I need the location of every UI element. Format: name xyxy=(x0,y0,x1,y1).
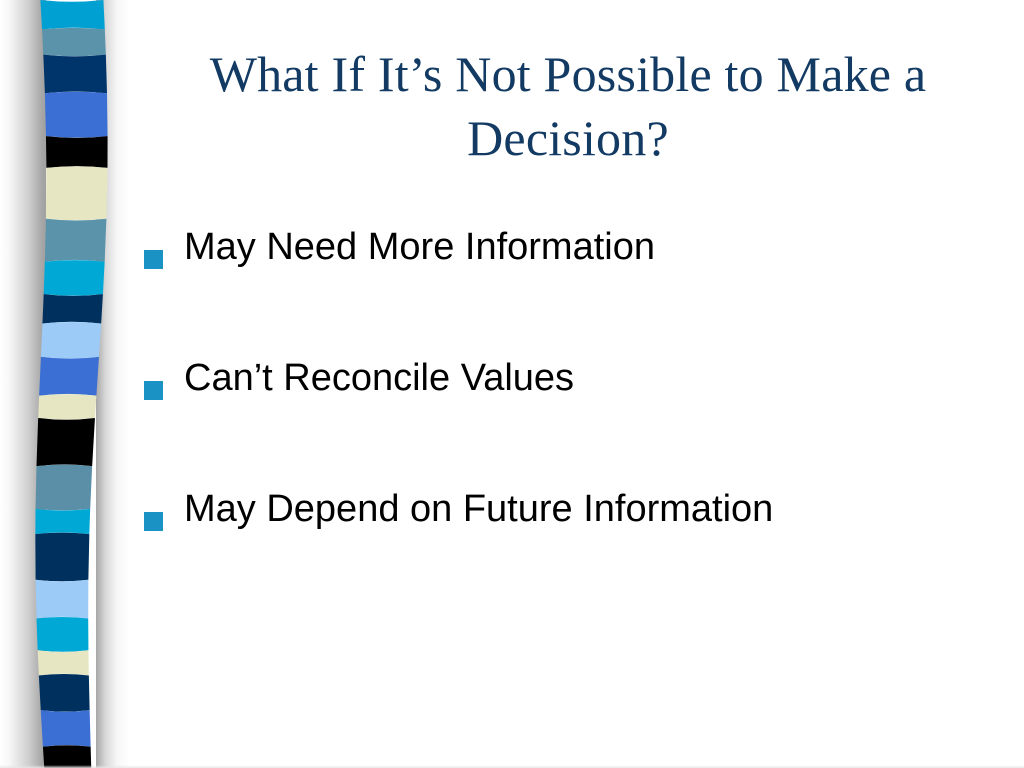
ribbon-band xyxy=(43,55,107,94)
ribbon-band xyxy=(35,509,90,534)
bullet-list: May Need More Information Can’t Reconcil… xyxy=(144,228,1004,621)
ribbon-band xyxy=(39,357,99,396)
list-item: May Depend on Future Information xyxy=(144,490,1004,621)
ribbon-band xyxy=(37,617,89,652)
ribbon-band xyxy=(36,418,94,466)
ribbon-band xyxy=(36,465,93,511)
square-bullet-icon xyxy=(144,512,163,531)
ribbon-band xyxy=(42,294,102,323)
ribbon-band xyxy=(39,674,90,712)
list-item: May Need More Information xyxy=(144,228,1004,359)
square-bullet-icon xyxy=(144,381,163,400)
slide-title: What If It’s Not Possible to Make a Deci… xyxy=(128,42,1008,170)
ribbon-band xyxy=(46,136,108,168)
ribbon-band xyxy=(38,394,96,419)
ribbon-bands-graphic xyxy=(0,0,140,768)
slide-canvas: What If It’s Not Possible to Make a Deci… xyxy=(0,0,1024,768)
list-item-label: May Need More Information xyxy=(184,228,1004,266)
ribbon-band xyxy=(36,580,89,619)
square-bullet-icon xyxy=(144,250,163,269)
list-item-label: Can’t Reconcile Values xyxy=(184,359,1004,397)
left-color-band-ribbon xyxy=(0,0,140,768)
ribbon-band xyxy=(45,92,108,138)
list-item: Can’t Reconcile Values xyxy=(144,359,1004,490)
ribbon-band xyxy=(41,710,91,747)
ribbon-band xyxy=(38,650,89,675)
ribbon-band xyxy=(40,0,104,29)
ribbon-band xyxy=(46,166,108,220)
ribbon-band xyxy=(41,322,101,358)
ribbon-band xyxy=(45,219,107,262)
ribbon-band xyxy=(42,28,106,56)
ribbon-band xyxy=(44,260,105,296)
list-item-label: May Depend on Future Information xyxy=(184,490,1004,528)
ribbon-band xyxy=(35,533,89,582)
